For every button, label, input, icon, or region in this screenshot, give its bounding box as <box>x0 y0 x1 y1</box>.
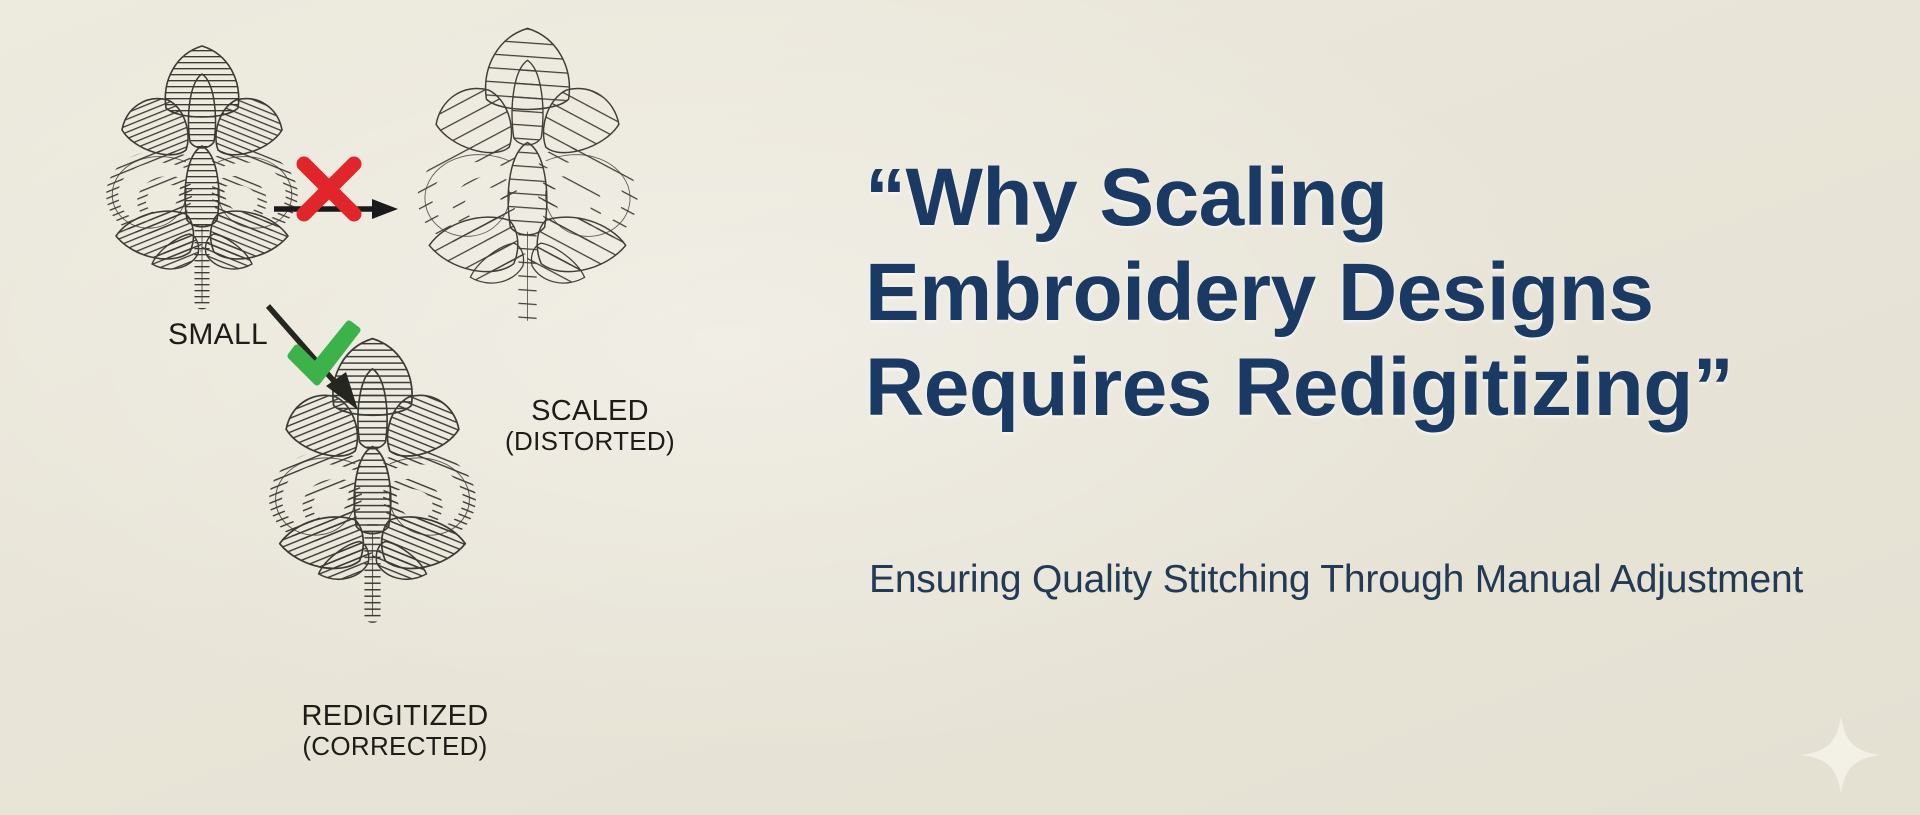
headline-line-3: Requires Redigitizing” <box>865 340 1875 435</box>
headline-line-2: Embroidery Designs <box>865 245 1875 340</box>
reject-x-icon <box>292 152 366 226</box>
accept-check-icon <box>285 320 363 392</box>
embroidery-motif-small <box>86 38 318 316</box>
embroidery-motif-scaled <box>395 18 660 338</box>
slide-canvas: SMALL <box>0 0 1920 815</box>
caption-redigitized-sublabel: (CORRECTED) <box>250 732 540 761</box>
caption-redigitized: REDIGITIZED (CORRECTED) <box>250 700 540 762</box>
page-subtitle: Ensuring Quality Stitching Through Manua… <box>869 558 1803 602</box>
sparkle-icon <box>1798 712 1884 798</box>
page-title: “Why Scaling Embroidery Designs Requires… <box>865 150 1875 435</box>
caption-redigitized-label: REDIGITIZED <box>250 700 540 732</box>
headline-line-1: “Why Scaling <box>865 150 1875 245</box>
